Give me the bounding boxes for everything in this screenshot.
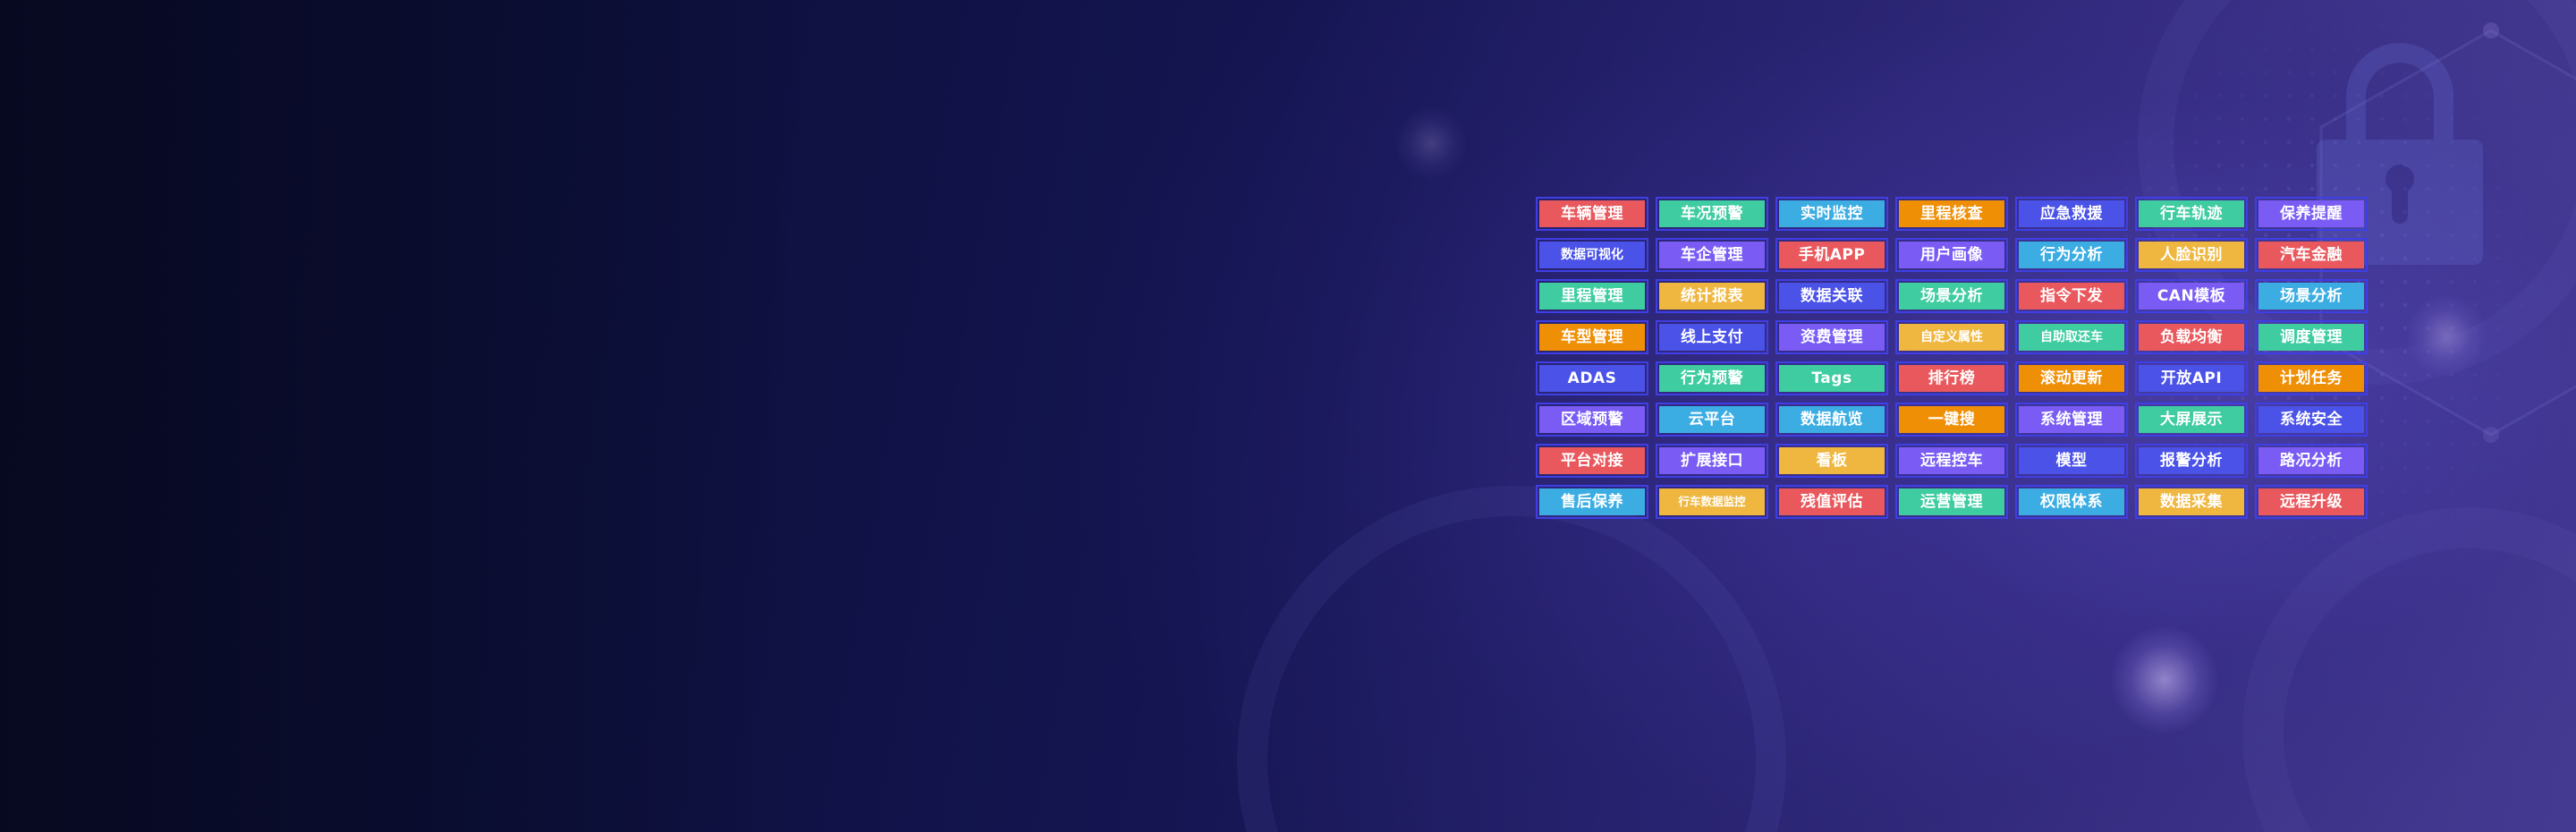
feature-tile-label: 调度管理 xyxy=(2258,324,2364,351)
feature-tile[interactable]: 售后保养 xyxy=(1536,485,1648,519)
feature-tile-grid: 车辆管理车况预警实时监控里程核查应急救援行车轨迹保养提醒数据可视化车企管理手机A… xyxy=(1536,197,2368,519)
feature-tile-label: 数据采集 xyxy=(2139,488,2244,515)
feature-tile[interactable]: 人脸识别 xyxy=(2135,238,2248,272)
feature-tile-label: 权限体系 xyxy=(2019,488,2124,515)
feature-tile-label: 模型 xyxy=(2019,447,2124,474)
feature-tile[interactable]: 线上支付 xyxy=(1656,320,1768,354)
feature-tile[interactable]: 场景分析 xyxy=(2255,279,2368,313)
feature-tile-label: 平台对接 xyxy=(1539,447,1645,474)
feature-tile-label: 人脸识别 xyxy=(2139,242,2244,268)
feature-tile[interactable]: 场景分析 xyxy=(1895,279,2008,313)
feature-tile-label: 线上支付 xyxy=(1659,324,1765,351)
feature-tile[interactable]: 车况预警 xyxy=(1656,197,1768,231)
feature-tile[interactable]: 数据可视化 xyxy=(1536,238,1648,272)
feature-tile[interactable]: CAN模板 xyxy=(2135,279,2248,313)
feature-tile[interactable]: 自定义属性 xyxy=(1895,320,2008,354)
feature-tile[interactable]: 残值评估 xyxy=(1775,485,1888,519)
feature-tile[interactable]: 模型 xyxy=(2015,444,2128,478)
feature-tile[interactable]: 开放API xyxy=(2135,361,2248,395)
tile-row: 售后保养行车数据监控残值评估运营管理权限体系数据采集远程升级 xyxy=(1536,485,2368,519)
feature-tile-label: 车企管理 xyxy=(1659,242,1765,268)
feature-tile-label: 里程管理 xyxy=(1539,283,1645,310)
feature-tile-label: 看板 xyxy=(1779,447,1885,474)
feature-tile-label: 自定义属性 xyxy=(1899,324,2004,351)
feature-tile[interactable]: 应急救援 xyxy=(2015,197,2128,231)
tile-row: 数据可视化车企管理手机APP用户画像行为分析人脸识别汽车金融 xyxy=(1536,238,2368,272)
feature-tile[interactable]: 云平台 xyxy=(1656,403,1768,437)
feature-tile-label: 区域预警 xyxy=(1539,406,1645,433)
feature-tile-label: 实时监控 xyxy=(1779,200,1885,227)
feature-tile[interactable]: Tags xyxy=(1775,361,1888,395)
feature-tile-label: 系统安全 xyxy=(2258,406,2364,433)
feature-tile[interactable]: 手机APP xyxy=(1775,238,1888,272)
feature-tile-label: 开放API xyxy=(2139,365,2244,392)
feature-tile[interactable]: 行车轨迹 xyxy=(2135,197,2248,231)
app-background: 车辆管理车况预警实时监控里程核查应急救援行车轨迹保养提醒数据可视化车企管理手机A… xyxy=(0,0,2576,832)
feature-tile-label: 数据可视化 xyxy=(1539,242,1645,268)
glow-accent-3 xyxy=(1395,107,1467,179)
tile-row: 车辆管理车况预警实时监控里程核查应急救援行车轨迹保养提醒 xyxy=(1536,197,2368,231)
feature-tile[interactable]: 运营管理 xyxy=(1895,485,2008,519)
feature-tile-label: 一键搜 xyxy=(1899,406,2004,433)
feature-tile[interactable]: 数据航览 xyxy=(1775,403,1888,437)
tile-row: 平台对接扩展接口看板远程控车模型报警分析路况分析 xyxy=(1536,444,2368,478)
feature-tile-label: 资费管理 xyxy=(1779,324,1885,351)
feature-tile[interactable]: 数据关联 xyxy=(1775,279,1888,313)
feature-tile-label: 报警分析 xyxy=(2139,447,2244,474)
feature-tile-label: 场景分析 xyxy=(1899,283,2004,310)
feature-tile[interactable]: 数据采集 xyxy=(2135,485,2248,519)
feature-tile-label: 自助取还车 xyxy=(2019,324,2124,351)
feature-tile[interactable]: 报警分析 xyxy=(2135,444,2248,478)
swoosh-arc-left xyxy=(1234,483,1789,832)
feature-tile-label: 用户画像 xyxy=(1899,242,2004,268)
feature-tile-label: 车辆管理 xyxy=(1539,200,1645,227)
feature-tile[interactable]: 区域预警 xyxy=(1536,403,1648,437)
feature-tile[interactable]: ADAS xyxy=(1536,361,1648,395)
feature-tile-label: 行为预警 xyxy=(1659,365,1765,392)
feature-tile[interactable]: 远程控车 xyxy=(1895,444,2008,478)
feature-tile-label: 汽车金融 xyxy=(2258,242,2364,268)
feature-tile-label: 统计报表 xyxy=(1659,283,1765,310)
swoosh-arc-bottom xyxy=(2236,501,2576,832)
feature-tile-label: 数据航览 xyxy=(1779,406,1885,433)
feature-tile[interactable]: 车型管理 xyxy=(1536,320,1648,354)
feature-tile[interactable]: 用户画像 xyxy=(1895,238,2008,272)
feature-tile-label: 大屏展示 xyxy=(2139,406,2244,433)
feature-tile-label: 车型管理 xyxy=(1539,324,1645,351)
left-vignette xyxy=(0,0,805,832)
feature-tile-label: 数据关联 xyxy=(1779,283,1885,310)
feature-tile[interactable]: 调度管理 xyxy=(2255,320,2368,354)
feature-tile[interactable]: 行车数据监控 xyxy=(1656,485,1768,519)
glow-accent-1 xyxy=(2111,626,2218,734)
feature-tile[interactable]: 实时监控 xyxy=(1775,197,1888,231)
feature-tile[interactable]: 系统安全 xyxy=(2255,403,2368,437)
feature-tile[interactable]: 汽车金融 xyxy=(2255,238,2368,272)
feature-tile-label: Tags xyxy=(1779,365,1885,392)
feature-tile-label: 云平台 xyxy=(1659,406,1765,433)
glow-accent-2 xyxy=(2406,295,2487,376)
feature-tile-label: 远程控车 xyxy=(1899,447,2004,474)
feature-tile[interactable]: 路况分析 xyxy=(2255,444,2368,478)
feature-tile[interactable]: 远程升级 xyxy=(2255,485,2368,519)
feature-tile[interactable]: 行为预警 xyxy=(1656,361,1768,395)
feature-tile-label: 运营管理 xyxy=(1899,488,2004,515)
feature-tile[interactable]: 行为分析 xyxy=(2015,238,2128,272)
feature-tile-label: 行车数据监控 xyxy=(1659,488,1765,515)
feature-tile[interactable]: 负载均衡 xyxy=(2135,320,2248,354)
feature-tile-label: 计划任务 xyxy=(2258,365,2364,392)
feature-tile[interactable]: 指令下发 xyxy=(2015,279,2128,313)
feature-tile-label: 行为分析 xyxy=(2019,242,2124,268)
feature-tile-label: 负载均衡 xyxy=(2139,324,2244,351)
feature-tile-label: 排行榜 xyxy=(1899,365,2004,392)
tile-row: 车型管理线上支付资费管理自定义属性自助取还车负载均衡调度管理 xyxy=(1536,320,2368,354)
tile-row: ADAS行为预警Tags排行榜滚动更新开放API计划任务 xyxy=(1536,361,2368,395)
feature-tile-label: 保养提醒 xyxy=(2258,200,2364,227)
feature-tile-label: 应急救援 xyxy=(2019,200,2124,227)
feature-tile-label: ADAS xyxy=(1539,365,1645,392)
feature-tile-label: 指令下发 xyxy=(2019,283,2124,310)
feature-tile-label: CAN模板 xyxy=(2139,283,2244,310)
feature-tile[interactable]: 保养提醒 xyxy=(2255,197,2368,231)
feature-tile-label: 售后保养 xyxy=(1539,488,1645,515)
tile-row: 区域预警云平台数据航览一键搜系统管理大屏展示系统安全 xyxy=(1536,403,2368,437)
tile-row: 里程管理统计报表数据关联场景分析指令下发CAN模板场景分析 xyxy=(1536,279,2368,313)
feature-tile[interactable]: 大屏展示 xyxy=(2135,403,2248,437)
feature-tile-label: 扩展接口 xyxy=(1659,447,1765,474)
feature-tile-label: 残值评估 xyxy=(1779,488,1885,515)
feature-tile[interactable]: 里程核查 xyxy=(1895,197,2008,231)
feature-tile-label: 里程核查 xyxy=(1899,200,2004,227)
feature-tile-label: 场景分析 xyxy=(2258,283,2364,310)
feature-tile-label: 行车轨迹 xyxy=(2139,200,2244,227)
feature-tile[interactable]: 排行榜 xyxy=(1895,361,2008,395)
feature-tile[interactable]: 系统管理 xyxy=(2015,403,2128,437)
feature-tile-label: 路况分析 xyxy=(2258,447,2364,474)
feature-tile[interactable]: 一键搜 xyxy=(1895,403,2008,437)
feature-tile[interactable]: 扩展接口 xyxy=(1656,444,1768,478)
feature-tile[interactable]: 自助取还车 xyxy=(2015,320,2128,354)
feature-tile-label: 手机APP xyxy=(1779,242,1885,268)
feature-tile-label: 远程升级 xyxy=(2258,488,2364,515)
feature-tile[interactable]: 车辆管理 xyxy=(1536,197,1648,231)
feature-tile[interactable]: 统计报表 xyxy=(1656,279,1768,313)
feature-tile[interactable]: 滚动更新 xyxy=(2015,361,2128,395)
feature-tile-label: 滚动更新 xyxy=(2019,365,2124,392)
feature-tile[interactable]: 里程管理 xyxy=(1536,279,1648,313)
feature-tile[interactable]: 资费管理 xyxy=(1775,320,1888,354)
feature-tile[interactable]: 车企管理 xyxy=(1656,238,1768,272)
feature-tile[interactable]: 计划任务 xyxy=(2255,361,2368,395)
feature-tile[interactable]: 平台对接 xyxy=(1536,444,1648,478)
feature-tile[interactable]: 看板 xyxy=(1775,444,1888,478)
feature-tile-label: 车况预警 xyxy=(1659,200,1765,227)
feature-tile[interactable]: 权限体系 xyxy=(2015,485,2128,519)
feature-tile-label: 系统管理 xyxy=(2019,406,2124,433)
